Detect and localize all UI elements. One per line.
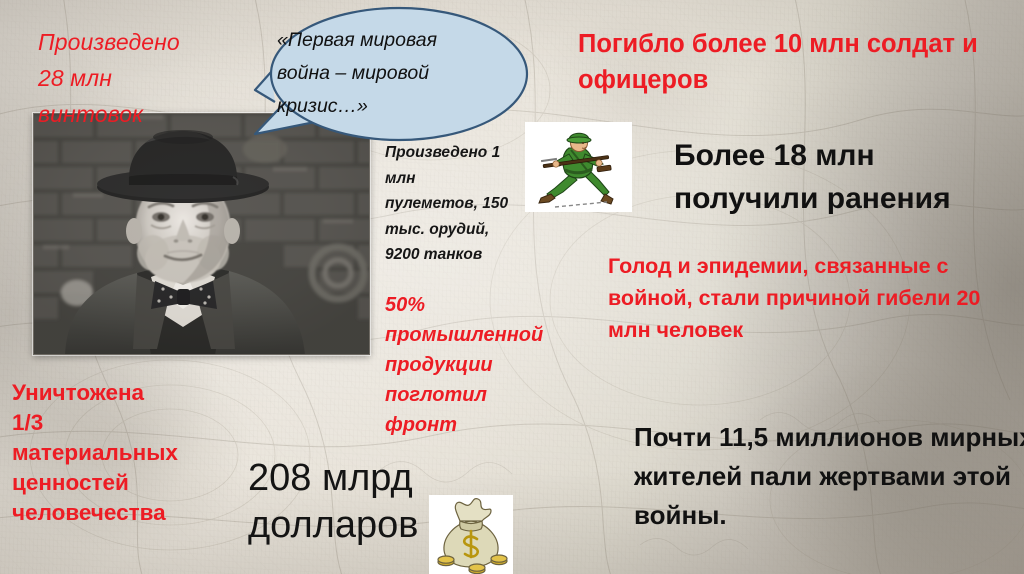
hunger-epidemics-text: Голод и эпидемии, связанные с войной, ст… bbox=[608, 250, 1024, 346]
soldiers-killed-text: Погибло более 10 млн солдат и офицеров bbox=[578, 26, 1018, 98]
quote-text: «Первая мировая война – мировой кризис…» bbox=[277, 24, 505, 123]
churchill-quote-bubble: «Первая мировая война – мировой кризис…» bbox=[253, 2, 531, 162]
money-bag-icon bbox=[429, 495, 513, 574]
rifles-produced-text: Произведено 28 млн винтовок bbox=[38, 24, 268, 132]
running-soldier-icon bbox=[525, 122, 632, 212]
civilian-victims-text: Почти 11,5 миллионов мирных жителей пали… bbox=[634, 418, 1024, 535]
presentation-slide: «Первая мировая война – мировой кризис…»… bbox=[0, 0, 1024, 574]
machineguns-produced-text: Произведено 1 млн пулеметов, 150 тыс. ор… bbox=[385, 140, 537, 268]
wounded-text: Более 18 млн получили ранения bbox=[674, 134, 1024, 220]
destroyed-values-text: Уничтожена 1/3 материальных ценностей че… bbox=[12, 378, 227, 528]
industry-share-text: 50% промышленной продукции поглотил фрон… bbox=[385, 290, 560, 440]
